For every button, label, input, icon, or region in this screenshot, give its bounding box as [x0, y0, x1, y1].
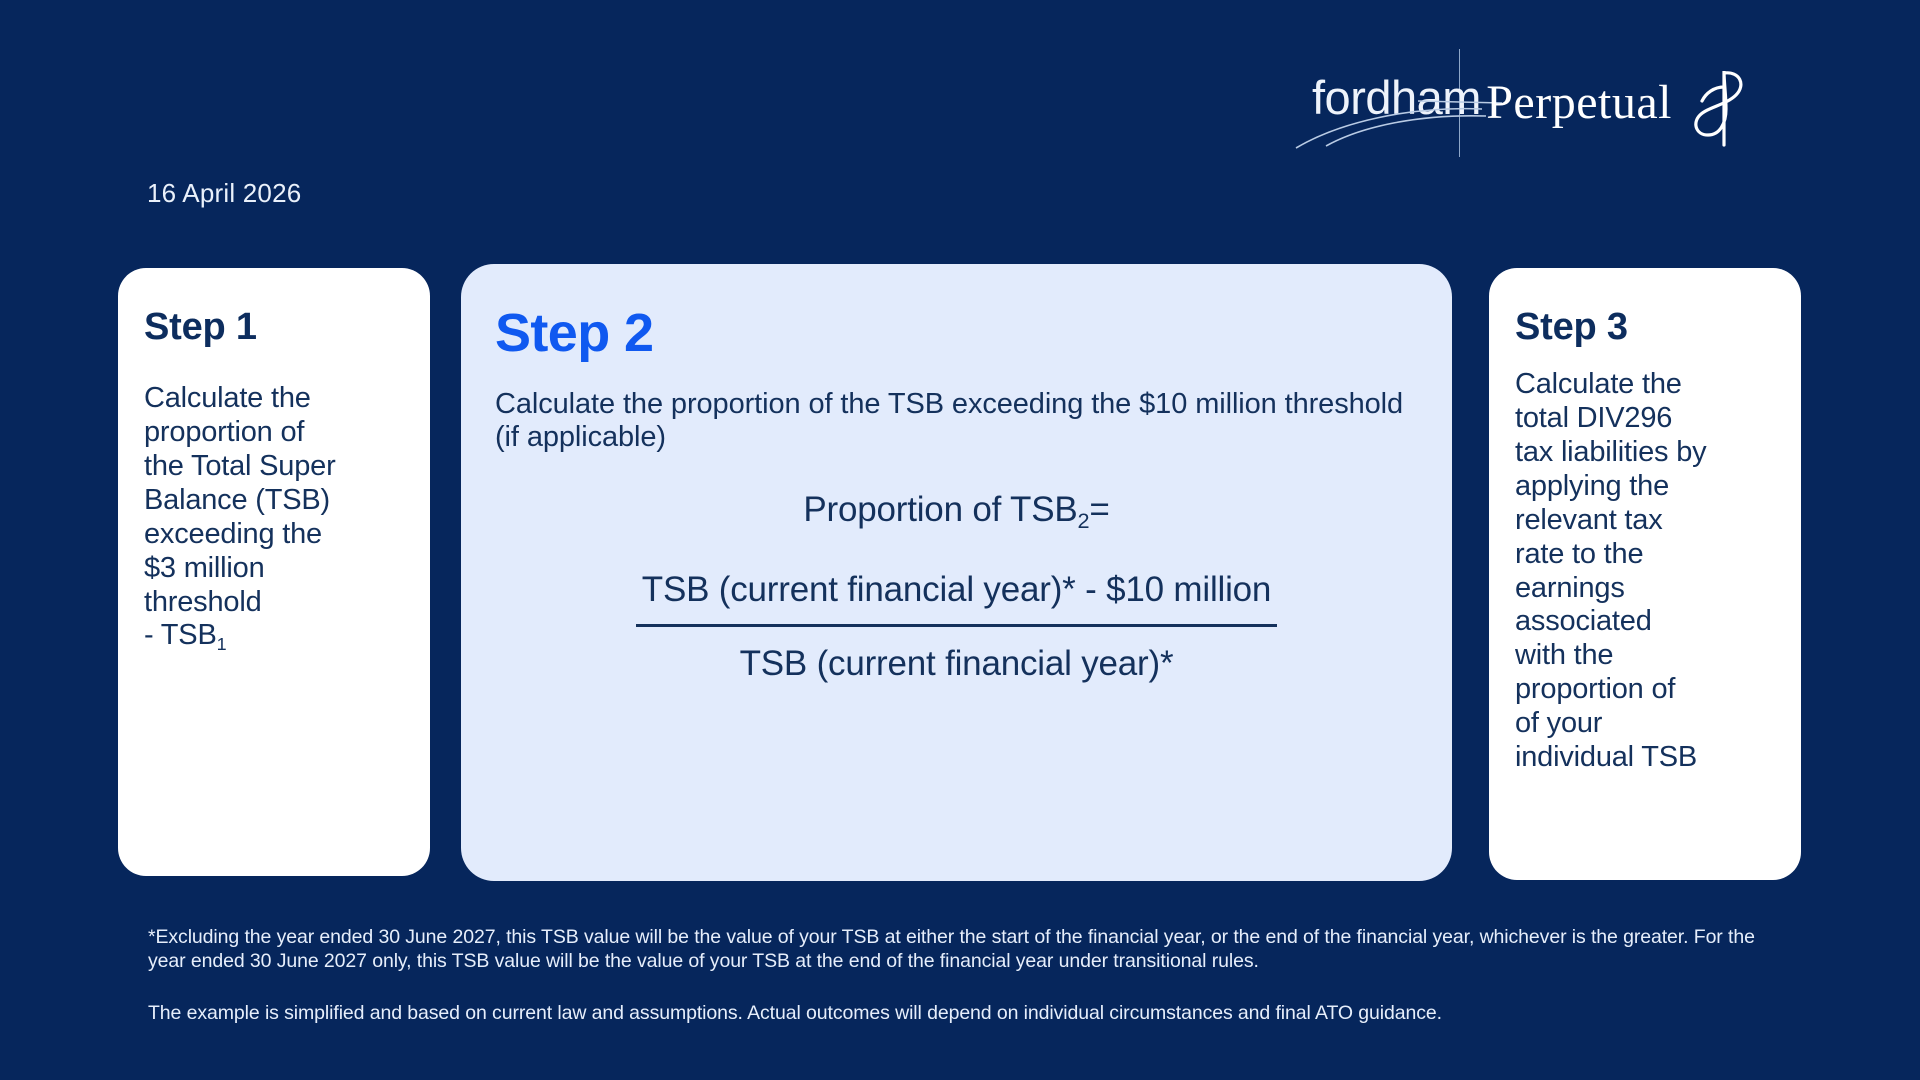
step-3-body-line: Calculate the: [1515, 368, 1682, 400]
step-3-body-line: associated: [1515, 605, 1652, 637]
step-2-title: Step 2: [495, 306, 1418, 360]
step-1-body: Calculate the proportion of the Total Su…: [144, 382, 404, 653]
footnote-asterisk: *Excluding the year ended 30 June 2027, …: [148, 926, 1788, 974]
step-3-body-line: earnings: [1515, 572, 1625, 604]
step-1-body-line: Calculate the: [144, 382, 311, 414]
formula-lead: Proportion of TSB2=: [495, 491, 1418, 530]
perpetual-infinity-p-icon: [1674, 57, 1750, 149]
step-3-body-line: total DIV296: [1515, 402, 1672, 434]
step-3-card: Step 3 Calculate the total DIV296 tax li…: [1489, 268, 1801, 880]
perpetual-wordmark: Perpetual: [1486, 79, 1672, 127]
step-3-body-line: of your: [1515, 707, 1602, 739]
step-1-tsb-prefix: - TSB: [144, 619, 217, 651]
step-1-card: Step 1 Calculate the proportion of the T…: [118, 268, 430, 876]
step-3-body: Calculate the total DIV296 tax liabiliti…: [1515, 368, 1775, 775]
formula-lead-prefix: Proportion of TSB: [803, 490, 1077, 529]
formula-lead-suffix: =: [1089, 490, 1109, 529]
step-1-body-line: Balance (TSB): [144, 484, 330, 516]
slide-root: fordham Perpetual 16 April 2026: [0, 0, 1920, 1080]
step-3-body-line: with the: [1515, 639, 1613, 671]
footnotes-block: *Excluding the year ended 30 June 2027, …: [148, 926, 1788, 1025]
fordham-wordmark: fordham: [1312, 74, 1481, 121]
step-3-body-line: proportion of: [1515, 673, 1675, 705]
footnote-disclaimer: The example is simplified and based on c…: [148, 1002, 1788, 1026]
step-3-title: Step 3: [1515, 308, 1775, 346]
step-3-body-line: individual TSB: [1515, 741, 1697, 773]
step-1-tsb-term: - TSB1: [144, 619, 226, 651]
step-1-body-line: exceeding the: [144, 518, 322, 550]
formula-fraction: TSB (current financial year)* - $10 mill…: [636, 571, 1277, 683]
step-1-body-line: proportion of: [144, 416, 304, 448]
fordham-logo: fordham: [1290, 48, 1449, 158]
step-2-card: Step 2 Calculate the proportion of the T…: [461, 264, 1452, 881]
step-1-body-line: the Total Super: [144, 450, 336, 482]
step-1-body-line: threshold: [144, 586, 262, 618]
step-2-intro-text: Calculate the proportion of the TSB exce…: [495, 388, 1418, 455]
step-2-formula: Proportion of TSB2= TSB (current financi…: [495, 491, 1418, 684]
step-1-body-line: $3 million: [144, 552, 265, 584]
formula-numerator: TSB (current financial year)* - $10 mill…: [636, 571, 1277, 624]
slide-date: 16 April 2026: [147, 178, 301, 209]
step-1-tsb-subscript: 1: [217, 634, 227, 654]
step-1-title: Step 1: [144, 308, 404, 346]
step-3-body-line: applying the: [1515, 470, 1669, 502]
formula-denominator: TSB (current financial year)*: [636, 627, 1277, 684]
step-3-body-line: tax liabilities by: [1515, 436, 1706, 468]
formula-lead-subscript: 2: [1078, 508, 1090, 533]
perpetual-logo: Perpetual: [1486, 48, 1750, 158]
brand-logo-lockup: fordham Perpetual: [1290, 48, 1750, 158]
step-3-body-line: relevant tax: [1515, 504, 1663, 536]
step-3-body-line: rate to the: [1515, 538, 1643, 570]
